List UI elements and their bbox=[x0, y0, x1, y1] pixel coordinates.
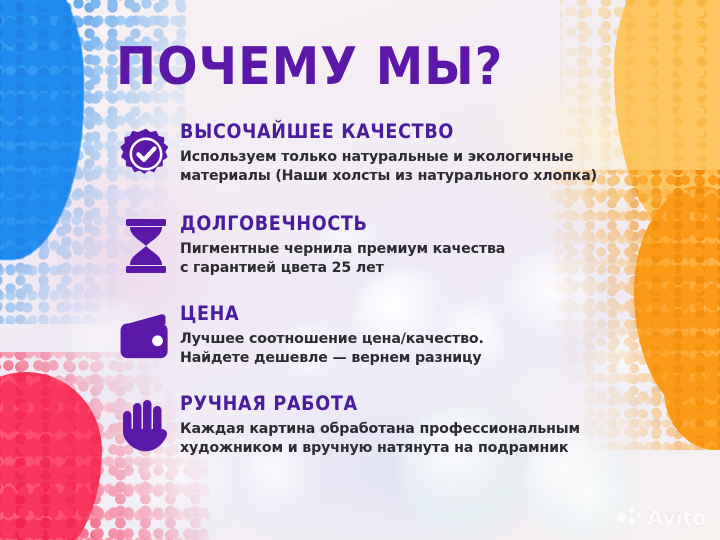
page-title: ПОЧЕМУ МЫ? bbox=[116, 38, 503, 96]
quality-badge-icon bbox=[112, 120, 180, 188]
avito-logo-icon bbox=[616, 507, 642, 529]
poster-content: ПОЧЕМУ МЫ? ВЫСОЧАЙШЕЕ КАЧЕСТВО Используе… bbox=[0, 0, 720, 540]
promo-poster: ПОЧЕМУ МЫ? ВЫСОЧАЙШЕЕ КАЧЕСТВО Используе… bbox=[0, 0, 720, 540]
feature-description: Пигментные чернила премиум качества с га… bbox=[180, 240, 505, 278]
feature-description: Используем только натуральные и экологич… bbox=[180, 148, 597, 186]
avito-watermark-label: Avito bbox=[647, 506, 706, 530]
feature-item-price: ЦЕНА Лучшее соотношение цена/качество. Н… bbox=[112, 300, 652, 378]
feature-body: ЦЕНА Лучшее соотношение цена/качество. Н… bbox=[180, 300, 484, 368]
feature-item-handmade: РУЧНАЯ РАБОТА Каждая картина обработана … bbox=[112, 390, 652, 468]
feature-list: ВЫСОЧАЙШЕЕ КАЧЕСТВО Используем только на… bbox=[112, 118, 652, 468]
hourglass-icon bbox=[112, 212, 180, 280]
feature-title: РУЧНАЯ РАБОТА bbox=[180, 392, 580, 416]
feature-body: ДОЛГОВЕЧНОСТЬ Пигментные чернила премиум… bbox=[180, 210, 505, 278]
avito-watermark: Avito bbox=[616, 506, 706, 530]
feature-body: РУЧНАЯ РАБОТА Каждая картина обработана … bbox=[180, 390, 580, 458]
wallet-icon bbox=[112, 302, 180, 370]
feature-description: Лучшее соотношение цена/качество. Найдет… bbox=[180, 330, 484, 368]
feature-item-durability: ДОЛГОВЕЧНОСТЬ Пигментные чернила премиум… bbox=[112, 210, 652, 288]
feature-description: Каждая картина обработана профессиональн… bbox=[180, 420, 580, 458]
hand-icon bbox=[112, 392, 180, 460]
feature-title: ЦЕНА bbox=[180, 302, 484, 326]
feature-title: ДОЛГОВЕЧНОСТЬ bbox=[180, 212, 505, 236]
feature-body: ВЫСОЧАЙШЕЕ КАЧЕСТВО Используем только на… bbox=[180, 118, 597, 186]
feature-item-quality: ВЫСОЧАЙШЕЕ КАЧЕСТВО Используем только на… bbox=[112, 118, 652, 196]
feature-title: ВЫСОЧАЙШЕЕ КАЧЕСТВО bbox=[180, 120, 597, 144]
